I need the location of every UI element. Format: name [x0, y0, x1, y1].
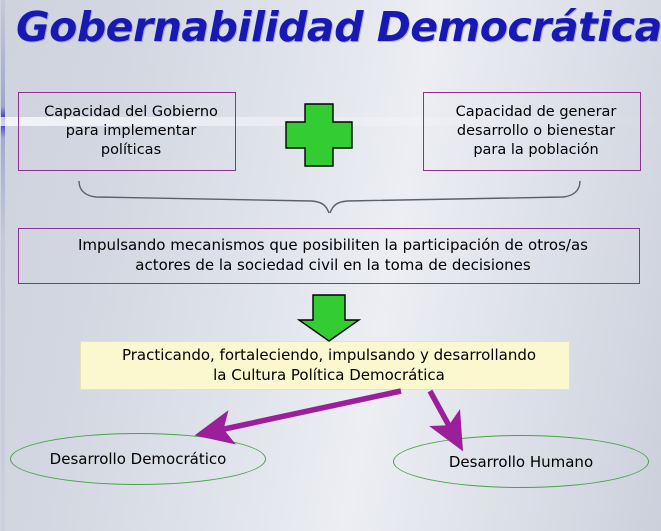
box-political-culture-line2: la Cultura Política Democrática: [85, 366, 573, 386]
ellipse-human-development-label: Desarrollo Humano: [449, 453, 593, 471]
box-mechanisms-line1: Impulsando mecanismos que posibiliten la…: [23, 236, 643, 256]
box-mechanisms-text: Impulsando mecanismos que posibiliten la…: [19, 236, 639, 276]
box-mechanisms: Impulsando mecanismos que posibiliten la…: [18, 228, 640, 284]
box-capacity-development-line2: desarrollo o bienestar: [428, 122, 644, 141]
box-political-culture-line1: Practicando, fortaleciendo, impulsando y…: [85, 346, 573, 366]
box-capacity-government-line1: Capacidad del Gobierno: [23, 103, 239, 122]
box-capacity-development-text: Capacidad de generar desarrollo o bienes…: [424, 103, 640, 161]
plus-icon: [286, 104, 352, 166]
slide-left-accent-bar: [1, 0, 5, 531]
split-arrow-left-icon: [215, 391, 401, 431]
box-political-culture-text: Practicando, fortaleciendo, impulsando y…: [81, 346, 569, 386]
box-political-culture: Practicando, fortaleciendo, impulsando y…: [80, 341, 570, 390]
box-mechanisms-line2: actores de la sociedad civil en la toma …: [23, 256, 643, 276]
slide-canvas: Gobernabilidad Democrática Capacidad del…: [0, 0, 661, 531]
page-title: Gobernabilidad Democrática: [16, 6, 636, 49]
box-capacity-government-text: Capacidad del Gobierno para implementar …: [19, 103, 235, 161]
box-capacity-government: Capacidad del Gobierno para implementar …: [18, 92, 236, 171]
ellipse-democratic-development: Desarrollo Democrático: [10, 433, 266, 485]
down-arrow-icon: [299, 295, 359, 341]
box-capacity-government-line2: para implementar: [23, 122, 239, 141]
box-capacity-development: Capacidad de generar desarrollo o bienes…: [423, 92, 641, 171]
ellipse-human-development: Desarrollo Humano: [393, 435, 649, 488]
curly-brace-icon: [79, 181, 580, 213]
box-capacity-development-line1: Capacidad de generar: [428, 103, 644, 122]
box-capacity-government-line3: políticas: [23, 141, 239, 160]
ellipse-democratic-development-label: Desarrollo Democrático: [50, 450, 227, 468]
split-arrow-right-icon: [430, 391, 453, 433]
box-capacity-development-line3: para la población: [428, 141, 644, 160]
